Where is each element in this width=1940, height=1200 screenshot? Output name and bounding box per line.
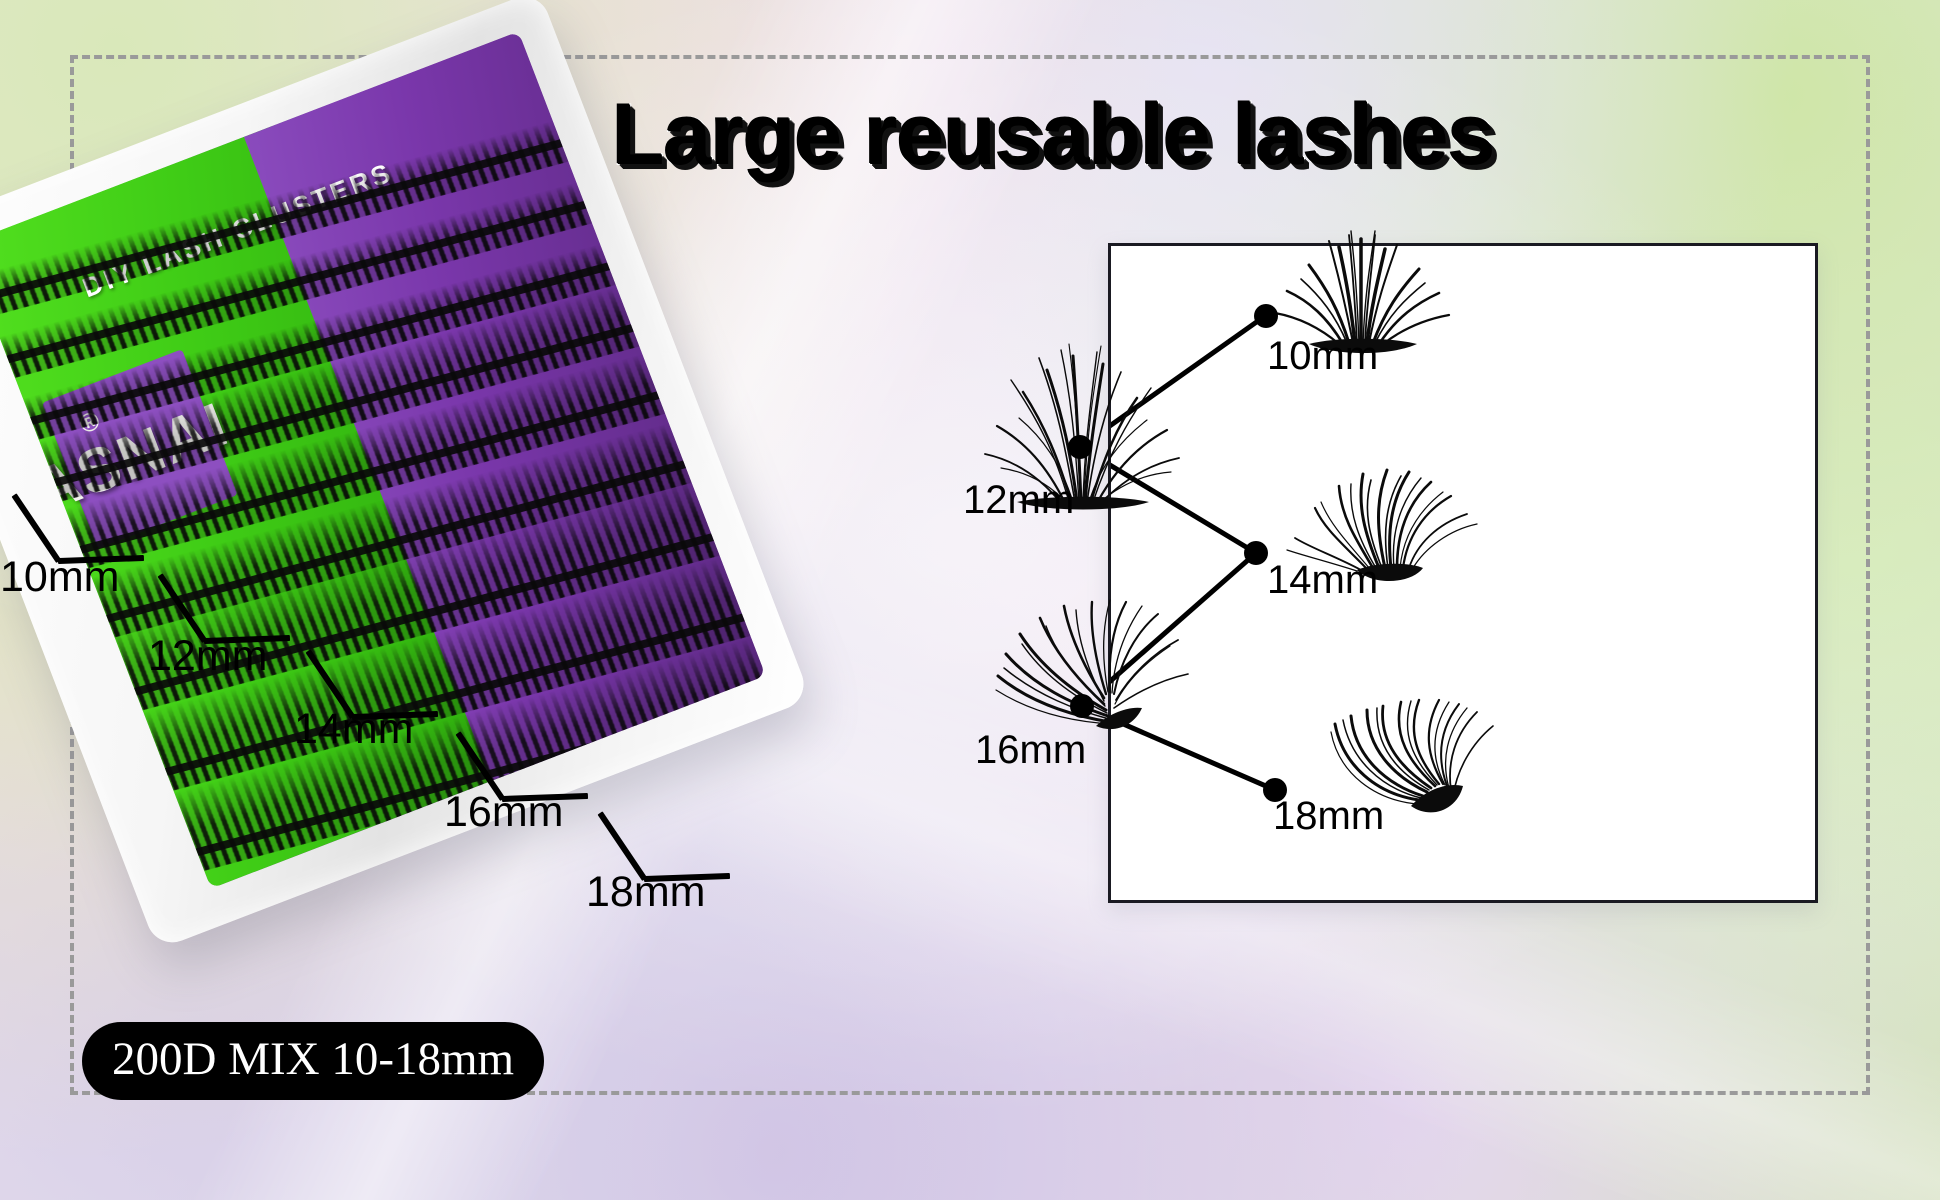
diagram-label-14mm: 14mm: [1267, 558, 1378, 603]
diagram-content: 12mm: [1111, 246, 1815, 900]
node-18mm: [1263, 778, 1287, 802]
callout-18mm: 18mm: [586, 868, 705, 917]
node-12mm: [1068, 435, 1092, 459]
callout-16mm: 16mm: [444, 788, 563, 837]
callout-14mm: 14mm: [294, 705, 413, 754]
node-14mm: [1244, 541, 1268, 565]
lash-length-diagram-panel: 12mm: [1108, 243, 1818, 903]
callout-10mm: 10mm: [0, 553, 119, 602]
spec-badge: 200D MIX 10-18mm: [82, 1022, 544, 1100]
diagram-label-16mm: 16mm: [975, 728, 1086, 773]
callout-12mm: 12mm: [148, 632, 267, 681]
node-10mm: [1254, 304, 1278, 328]
diagram-label-10mm: 10mm: [1267, 334, 1378, 379]
page-title: Large reusable lashes: [612, 92, 1902, 178]
diagram-label-18mm: 18mm: [1273, 794, 1384, 839]
node-16mm: [1070, 694, 1094, 718]
poster-canvas: DIY LASH CLUSTERS ® ASNAI: [0, 0, 1940, 1200]
diagram-label-12mm: 12mm: [963, 478, 1074, 523]
